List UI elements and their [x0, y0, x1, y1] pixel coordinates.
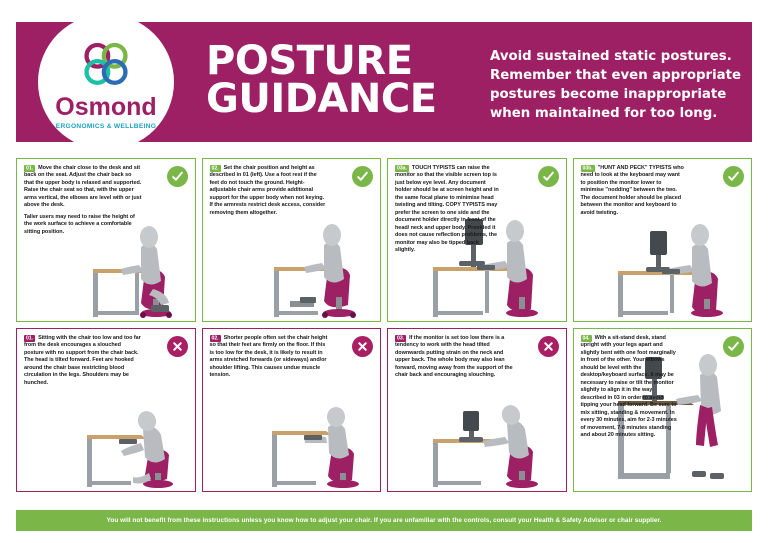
panel-3-bad: 03.If the monitor is set too low there i… [387, 328, 567, 492]
cross-icon [167, 336, 188, 357]
panel-number: 04. [581, 335, 592, 342]
panel-3-bad-text: 03.If the monitor is set too low there i… [388, 329, 520, 380]
panel-paragraph: Set the chair position and height as des… [210, 165, 326, 216]
panel-2-good-text: 02.Set the chair position and height as … [203, 159, 335, 217]
panel-number: 02. [210, 335, 221, 342]
short-person-arms-stretched-incorrect [260, 381, 380, 491]
tick-icon [723, 166, 744, 187]
panel-3a-good: 03a.TOUCH TYPISTS can raise the monitor … [387, 158, 567, 322]
panel-3b-good-text: 03b."HUNT AND PECK" TYPISTS who need to … [574, 159, 692, 217]
slouched-person-chair-too-low-incorrect [75, 381, 195, 491]
tick-icon [167, 166, 188, 187]
panel-paragraph: Move the chair close to the desk and sit… [24, 165, 141, 208]
panel-1-bad: 01.Sitting with the chair too low and to… [16, 328, 196, 492]
poster-header: Osmond ERGONOMICS & WELLBEING POSTURE GU… [16, 22, 752, 142]
panel-1-good-text: 01.Move the chair close to the desk and … [17, 159, 149, 236]
panel-3a-good-text: 03a.TOUCH TYPISTS can raise the monitor … [388, 159, 506, 255]
logo-wordmark: Osmond [55, 95, 156, 120]
panel-paragraph: With a sit-stand desk, stand upright wit… [581, 335, 677, 438]
panel-paragraph: If the monitor is set too low there is a… [395, 335, 513, 378]
tick-icon [352, 166, 373, 187]
panel-number: 01. [24, 165, 35, 172]
panel-2-bad: 02.Shorter people often set the chair he… [202, 328, 382, 492]
osmond-logo: Osmond ERGONOMICS & WELLBEING [38, 14, 174, 150]
panel-4-good-text: 04.With a sit-stand desk, stand upright … [574, 329, 686, 440]
panel-number: 02. [210, 165, 221, 172]
panel-number: 03b. [581, 165, 595, 172]
poster-page: Osmond ERGONOMICS & WELLBEING POSTURE GU… [0, 0, 768, 543]
panel-1-good: 01.Move the chair close to the desk and … [16, 158, 196, 322]
title-line-2: GUIDANCE [206, 80, 437, 118]
title-line-1: POSTURE [206, 42, 437, 80]
panel-4-good: 04.With a sit-stand desk, stand upright … [573, 328, 753, 492]
poster-title: POSTURE GUIDANCE [206, 42, 437, 119]
poster-footer: You will not benefit from these instruct… [16, 510, 752, 531]
header-tagline: Avoid sustained static postures. Remembe… [490, 48, 758, 124]
seated-person-with-footrest-correct [260, 211, 380, 321]
monitor-too-low-head-tilted-incorrect [425, 371, 567, 491]
tick-icon [723, 336, 744, 357]
panel-1-bad-text: 01.Sitting with the chair too low and to… [17, 329, 149, 387]
panel-paragraph: Shorter people often set the chair heigh… [210, 335, 328, 378]
panel-paragraph: "HUNT AND PECK" TYPISTS who need to look… [581, 165, 684, 216]
cross-icon [538, 336, 559, 357]
panel-paragraph: Taller users may need to raise the heigh… [24, 214, 135, 235]
panel-paragraph: Sitting with the chair too low and too f… [24, 335, 141, 386]
logo-subtitle: ERGONOMICS & WELLBEING [56, 123, 156, 130]
panel-number: 03. [395, 335, 406, 342]
panel-2-bad-text: 02.Shorter people often set the chair he… [203, 329, 335, 380]
panel-paragraph: TOUCH TYPISTS can raise the monitor so t… [395, 165, 499, 253]
lower-monitor-hunt-and-peck-correct [610, 201, 752, 321]
tick-icon [538, 166, 559, 187]
panel-number: 03a. [395, 165, 409, 172]
osmond-interlocking-rings-logo [79, 38, 133, 92]
footer-text: You will not benefit from these instruct… [107, 517, 662, 524]
panel-grid: 01.Move the chair close to the desk and … [16, 158, 752, 492]
cross-icon [352, 336, 373, 357]
panel-number: 01. [24, 335, 35, 342]
panel-2-good: 02.Set the chair position and height as … [202, 158, 382, 322]
panel-3b-good: 03b."HUNT AND PECK" TYPISTS who need to … [573, 158, 753, 322]
